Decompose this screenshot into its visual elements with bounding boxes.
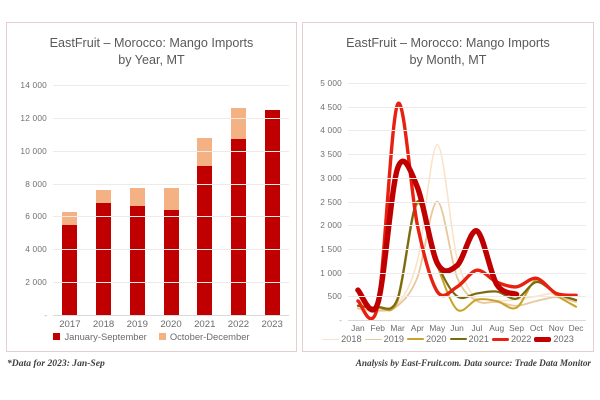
bar-series-layer <box>53 85 289 315</box>
x-axis-tick-label: Nov <box>546 323 566 333</box>
gridline <box>348 130 586 131</box>
legend-item[interactable]: 2019 <box>365 334 404 344</box>
y-axis-tick-label: 12 000 <box>20 113 47 123</box>
gridline <box>348 83 586 84</box>
x-axis-tick-label: May <box>427 323 447 333</box>
x-axis-tick-label: Jan <box>348 323 368 333</box>
bar-stack[interactable] <box>265 110 280 315</box>
y-axis-tick-label: 2 000 <box>320 220 342 230</box>
legend-label: 2021 <box>469 334 489 344</box>
y-axis-tick-label: 10 000 <box>20 146 47 156</box>
line-chart-plot-area: -5001 0001 5002 0002 5003 0003 5004 0004… <box>348 83 586 320</box>
footnote-right: Analysis by East-Fruit.com. Data source:… <box>356 358 591 368</box>
legend-line-swatch <box>534 337 551 342</box>
legend-label: 2023 <box>553 334 573 344</box>
legend-item[interactable]: 2021 <box>450 334 489 344</box>
y-axis-tick-label: - <box>44 310 47 320</box>
bar-column[interactable] <box>154 85 188 315</box>
x-axis-tick-label: Sep <box>507 323 527 333</box>
bar-chart-legend: January-SeptemberOctober-December <box>7 331 296 342</box>
line-chart-title: EastFruit – Morocco: Mango Imports by Mo… <box>303 35 593 69</box>
x-axis-tick-label: 2020 <box>154 319 188 330</box>
x-axis-tick-label: Jun <box>447 323 467 333</box>
bar-chart-title: EastFruit – Morocco: Mango Imports by Ye… <box>7 35 296 69</box>
bar-column[interactable] <box>188 85 222 315</box>
legend-item[interactable]: 2023 <box>534 334 573 344</box>
bar-segment-oct-dec[interactable] <box>130 188 145 206</box>
y-axis-tick-label: 2 000 <box>25 277 47 287</box>
y-axis-tick-label: 1 500 <box>320 244 342 254</box>
x-axis-tick-label: 2017 <box>53 319 87 330</box>
gridline <box>348 249 586 250</box>
bar-segment-jan-sep[interactable] <box>231 139 246 315</box>
legend-label: October-December <box>170 331 250 342</box>
bar-chart-x-axis-labels: 2017201820192020202120222023 <box>53 319 289 330</box>
line-chart-panel: EastFruit – Morocco: Mango Imports by Mo… <box>302 22 594 352</box>
x-axis-tick-label: Jul <box>467 323 487 333</box>
bar-stack[interactable] <box>130 188 145 315</box>
bar-segment-oct-dec[interactable] <box>96 190 111 203</box>
axis-baseline <box>53 315 289 316</box>
line-chart-legend: 201820192020202120222023 <box>303 334 593 344</box>
x-axis-tick-label: Oct <box>526 323 546 333</box>
bar-stack[interactable] <box>164 188 179 315</box>
gridline <box>348 296 586 297</box>
bar-segment-oct-dec[interactable] <box>231 108 246 139</box>
bar-segment-jan-sep[interactable] <box>96 203 111 315</box>
legend-swatch <box>159 333 166 340</box>
gridline <box>348 225 586 226</box>
gridline <box>348 178 586 179</box>
bar-segment-oct-dec[interactable] <box>197 138 212 167</box>
axis-baseline <box>348 320 586 321</box>
gridline <box>348 107 586 108</box>
legend-line-swatch <box>365 339 382 340</box>
legend-label: 2020 <box>426 334 446 344</box>
bar-stack[interactable] <box>197 138 212 315</box>
bar-segment-jan-sep[interactable] <box>265 110 280 315</box>
bar-segment-jan-sep[interactable] <box>62 225 77 315</box>
line-series-2023[interactable] <box>358 161 517 310</box>
gridline <box>53 282 289 283</box>
legend-line-swatch <box>450 338 467 340</box>
bar-segment-oct-dec[interactable] <box>62 212 77 225</box>
legend-label: 2022 <box>511 334 531 344</box>
y-axis-tick-label: 14 000 <box>20 80 47 90</box>
x-axis-tick-label: 2021 <box>188 319 222 330</box>
infographic-root: EastFruit – Morocco: Mango Imports by Ye… <box>0 0 600 400</box>
bar-column[interactable] <box>53 85 87 315</box>
y-axis-tick-label: 3 500 <box>320 149 342 159</box>
footnote-left: *Data for 2023: Jan-Sep <box>7 358 105 369</box>
x-axis-tick-label: 2019 <box>120 319 154 330</box>
legend-label: 2019 <box>384 334 404 344</box>
y-axis-tick-label: 1 000 <box>320 268 342 278</box>
y-axis-tick-label: 4 000 <box>25 244 47 254</box>
gridline <box>53 85 289 86</box>
y-axis-tick-label: 5 000 <box>320 78 342 88</box>
bar-segment-jan-sep[interactable] <box>130 206 145 315</box>
gridline <box>348 273 586 274</box>
bar-column[interactable] <box>87 85 121 315</box>
legend-item[interactable]: January-September <box>53 331 146 342</box>
y-axis-tick-label: 2 500 <box>320 197 342 207</box>
legend-swatch <box>53 333 60 340</box>
x-axis-tick-label: Aug <box>487 323 507 333</box>
y-axis-tick-label: 4 000 <box>320 125 342 135</box>
bar-column[interactable] <box>222 85 256 315</box>
bar-segment-jan-sep[interactable] <box>164 210 179 315</box>
line-chart-x-axis-labels: JanFebMarAprMayJunJulAugSepOctNovDec <box>348 323 586 333</box>
bar-chart-panel: EastFruit – Morocco: Mango Imports by Ye… <box>6 22 297 352</box>
gridline <box>348 154 586 155</box>
gridline <box>53 184 289 185</box>
bar-stack[interactable] <box>62 212 77 315</box>
legend-item[interactable]: 2018 <box>322 334 361 344</box>
x-axis-tick-label: 2022 <box>222 319 256 330</box>
bar-stack[interactable] <box>231 108 246 315</box>
bar-chart-plot-area: -2 0004 0006 0008 00010 00012 00014 000 <box>53 85 289 315</box>
y-axis-tick-label: - <box>339 315 342 325</box>
x-axis-tick-label: Mar <box>388 323 408 333</box>
y-axis-tick-label: 500 <box>328 291 342 301</box>
y-axis-tick-label: 3 000 <box>320 173 342 183</box>
bar-stack[interactable] <box>96 190 111 315</box>
legend-line-swatch <box>407 338 424 340</box>
legend-item[interactable]: 2020 <box>407 334 446 344</box>
gridline <box>53 151 289 152</box>
legend-line-swatch <box>322 339 339 340</box>
gridline <box>53 118 289 119</box>
bar-column[interactable] <box>255 85 289 315</box>
y-axis-tick-label: 4 500 <box>320 102 342 112</box>
y-axis-tick-label: 6 000 <box>25 211 47 221</box>
gridline <box>53 249 289 250</box>
legend-label: 2018 <box>341 334 361 344</box>
gridline <box>53 216 289 217</box>
legend-item[interactable]: October-December <box>159 331 250 342</box>
x-axis-tick-label: Dec <box>566 323 586 333</box>
legend-item[interactable]: 2022 <box>492 334 531 344</box>
legend-label: January-September <box>64 331 146 342</box>
x-axis-tick-label: 2023 <box>255 319 289 330</box>
x-axis-tick-label: 2018 <box>87 319 121 330</box>
bar-segment-oct-dec[interactable] <box>164 188 179 210</box>
legend-line-swatch <box>492 338 509 341</box>
x-axis-tick-label: Feb <box>368 323 388 333</box>
bar-segment-jan-sep[interactable] <box>197 166 212 315</box>
bar-column[interactable] <box>120 85 154 315</box>
x-axis-tick-label: Apr <box>407 323 427 333</box>
y-axis-tick-label: 8 000 <box>25 179 47 189</box>
chart-panels: EastFruit – Morocco: Mango Imports by Ye… <box>0 22 600 352</box>
gridline <box>348 202 586 203</box>
